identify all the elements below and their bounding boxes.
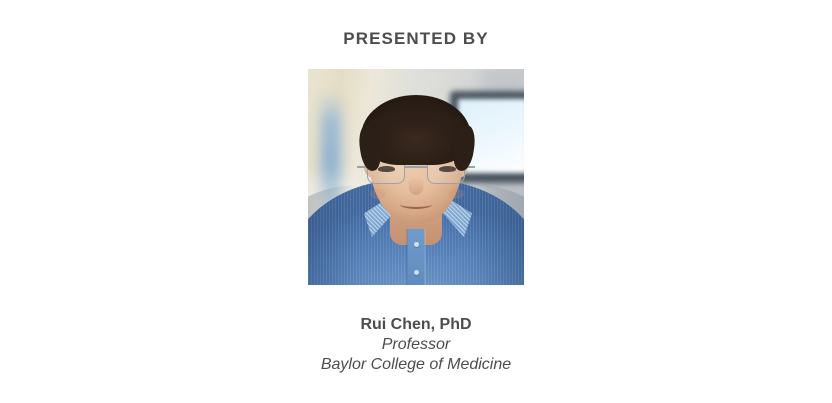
- shirt-button: [414, 242, 419, 247]
- speaker-card: PRESENTED BY: [0, 0, 832, 403]
- subject-hair-fringe: [368, 113, 464, 135]
- presented-by-slide: PRESENTED BY: [0, 0, 832, 403]
- shirt-shadow-left: [308, 185, 358, 285]
- shirt-button: [414, 270, 419, 275]
- speaker-job-title: Professor: [321, 335, 511, 355]
- speaker-portrait-photo: [308, 69, 524, 285]
- speaker-affiliation: Baylor College of Medicine: [321, 355, 511, 375]
- shirt-placket: [408, 229, 425, 285]
- speaker-name: Rui Chen, PhD: [321, 315, 511, 335]
- subject-cheek-left: [370, 189, 386, 199]
- subject-nose: [409, 177, 424, 195]
- subject-cheek-right: [448, 189, 464, 199]
- shirt-shadow-right: [474, 185, 524, 285]
- speaker-caption: Rui Chen, PhD Professor Baylor College o…: [321, 315, 511, 375]
- presented-by-heading: PRESENTED BY: [343, 29, 488, 49]
- eyeglasses-bridge: [404, 166, 428, 168]
- subject-mouth: [400, 200, 432, 209]
